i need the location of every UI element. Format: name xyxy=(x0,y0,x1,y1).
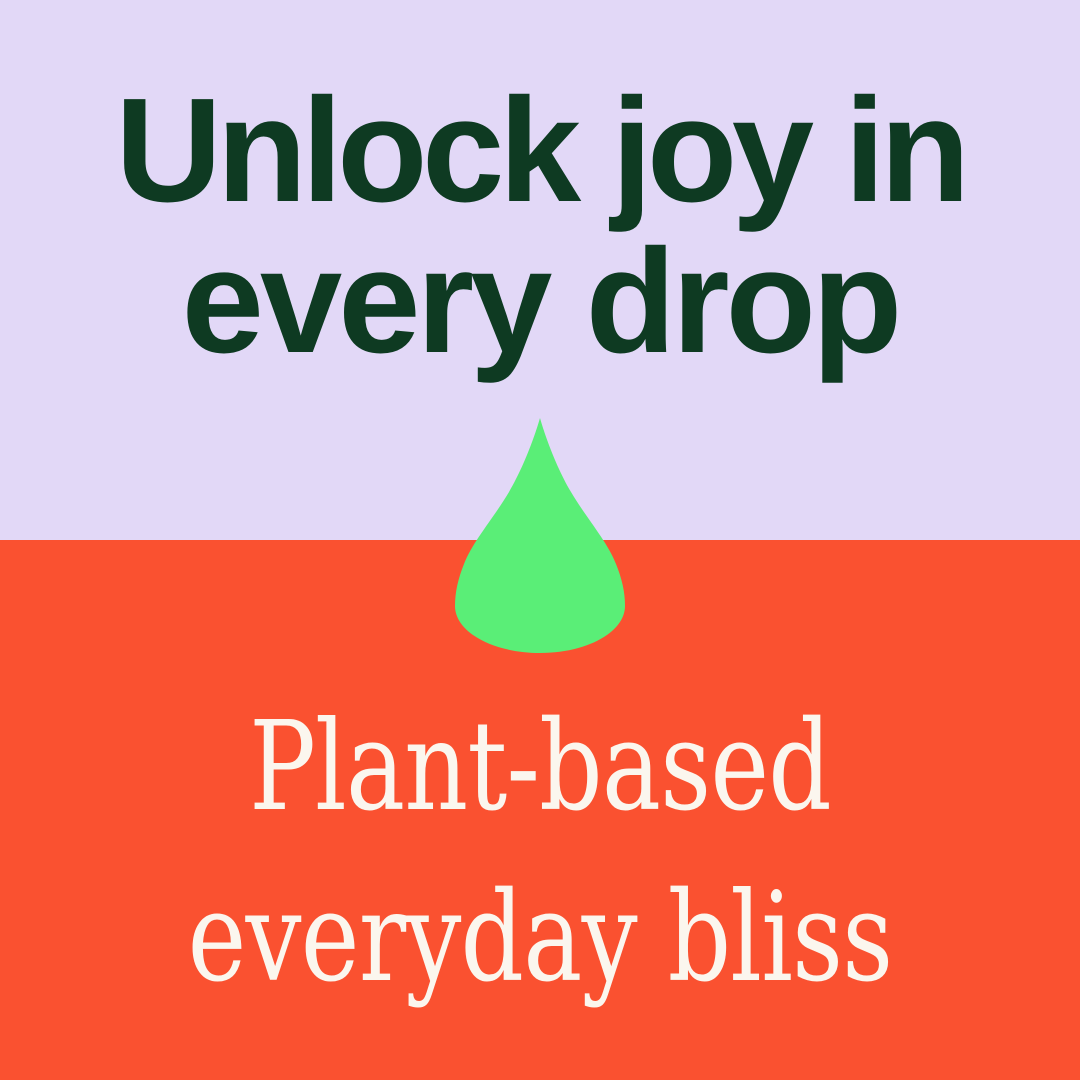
promo-poster: Unlock joy in every drop Plant-based eve… xyxy=(0,0,1080,1080)
bottom-color-band xyxy=(0,540,1080,1080)
top-color-band xyxy=(0,0,1080,540)
